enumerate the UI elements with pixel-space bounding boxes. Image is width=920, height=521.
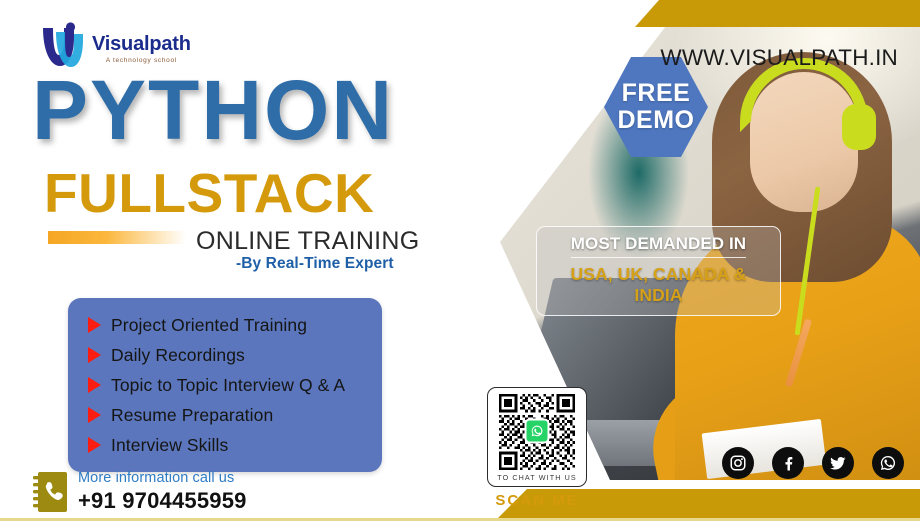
- contact-info[interactable]: More information call us +91 9704455959: [33, 470, 247, 514]
- list-item: Project Oriented Training: [68, 310, 382, 340]
- feature-label: Resume Preparation: [111, 405, 273, 426]
- training-mode-label: ONLINE TRAINING: [196, 227, 420, 256]
- trainer-byline: -By Real-Time Expert: [236, 255, 394, 273]
- list-item: Interview Skills: [68, 430, 382, 460]
- contact-phone-number[interactable]: +91 9704455959: [78, 488, 247, 514]
- triangle-bullet-icon: [88, 317, 101, 333]
- contact-caption: More information call us: [78, 470, 247, 486]
- qr-caption: TO CHAT WITH US: [488, 473, 586, 482]
- page-subtitle: FULLSTACK: [44, 166, 374, 221]
- list-item: Daily Recordings: [68, 340, 382, 370]
- top-right-gold-band: [635, 0, 920, 27]
- whatsapp-glyph-icon: [879, 454, 897, 472]
- qr-card[interactable]: TO CHAT WITH US: [487, 387, 587, 487]
- free-demo-line-1: FREE: [622, 81, 691, 107]
- whatsapp-icon: [525, 419, 550, 444]
- phone-book-icon: [33, 472, 67, 512]
- facebook-icon[interactable]: [772, 447, 804, 479]
- twitter-glyph-icon: [829, 454, 847, 472]
- logo-wordmark: Visualpath: [92, 34, 191, 54]
- headphone-cup-shape: [842, 104, 876, 150]
- page-title: PYTHON: [32, 68, 394, 152]
- feature-label: Interview Skills: [111, 435, 228, 456]
- most-demanded-heading: MOST DEMANDED IN: [571, 234, 746, 258]
- qr-code-block[interactable]: TO CHAT WITH US SCAN ME: [487, 387, 587, 509]
- feature-label: Topic to Topic Interview Q & A: [111, 375, 345, 396]
- free-demo-line-2: DEMO: [618, 108, 695, 134]
- promotional-banner: Visualpath A technology school PYTHON FU…: [0, 0, 920, 521]
- most-demanded-countries: USA, UK, CANADA & INDIA: [547, 264, 770, 306]
- feature-label: Daily Recordings: [111, 345, 245, 366]
- twitter-icon[interactable]: [822, 447, 854, 479]
- instagram-icon[interactable]: [722, 447, 754, 479]
- qr-scan-label: SCAN ME: [487, 492, 587, 509]
- triangle-bullet-icon: [88, 437, 101, 453]
- list-item: Resume Preparation: [68, 400, 382, 430]
- social-links: [722, 447, 904, 479]
- triangle-bullet-icon: [88, 377, 101, 393]
- features-list: Project Oriented Training Daily Recordin…: [68, 298, 382, 472]
- triangle-bullet-icon: [88, 407, 101, 423]
- most-demanded-banner: MOST DEMANDED IN USA, UK, CANADA & INDIA: [536, 226, 781, 316]
- accent-gradient-bar: [48, 231, 186, 244]
- facebook-glyph-icon: [779, 454, 797, 472]
- instagram-glyph-icon: [729, 454, 747, 472]
- list-item: Topic to Topic Interview Q & A: [68, 370, 382, 400]
- feature-label: Project Oriented Training: [111, 315, 307, 336]
- whatsapp-glyph-icon: [531, 425, 544, 438]
- whatsapp-icon[interactable]: [872, 447, 904, 479]
- triangle-bullet-icon: [88, 347, 101, 363]
- website-url[interactable]: WWW.VISUALPATH.IN: [660, 45, 898, 71]
